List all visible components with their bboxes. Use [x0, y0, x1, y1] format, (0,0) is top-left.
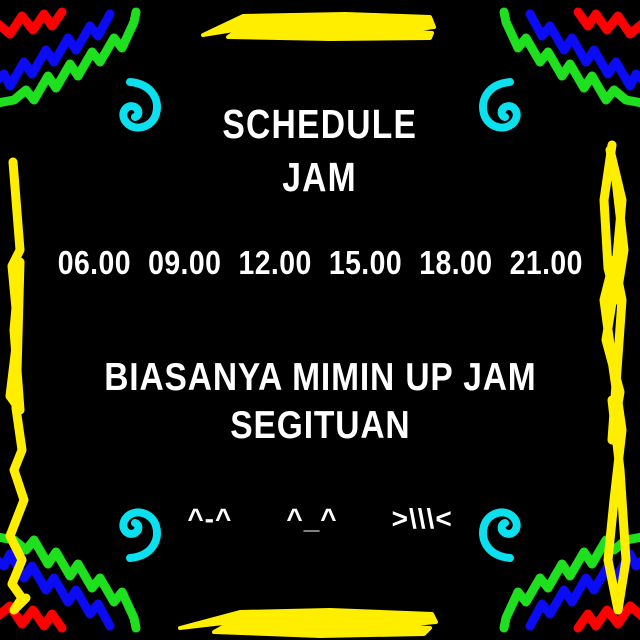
page-subtitle: JAM: [283, 157, 358, 198]
tagline-line-2: SEGITUAN: [104, 402, 536, 450]
schedule-time-slot: 12.00: [238, 244, 311, 282]
tagline-block: BIASANYA MIMIN UP JAM SEGITUAN: [69, 354, 572, 449]
schedule-time-slot: 06.00: [57, 244, 130, 282]
tagline-line-1: BIASANYA MIMIN UP JAM: [104, 354, 536, 402]
schedule-time-slot: 15.00: [329, 244, 402, 282]
emoticon-happy-face: ^-^: [187, 503, 232, 535]
poster-canvas: SCHEDULE JAM 06.00 09.00 12.00 15.00 18.…: [0, 0, 640, 640]
emoticon-row: ^-^ ^_^ >\\\<: [187, 503, 452, 535]
emoticon-smiling-face: ^_^: [286, 503, 337, 535]
poster-content: SCHEDULE JAM 06.00 09.00 12.00 15.00 18.…: [0, 0, 640, 640]
schedule-times-row: 06.00 09.00 12.00 15.00 18.00 21.00: [57, 244, 582, 282]
emoticon-blushing-face: >\\\<: [392, 503, 453, 535]
schedule-time-slot: 21.00: [509, 244, 582, 282]
page-title: SCHEDULE: [223, 104, 418, 145]
schedule-time-slot: 09.00: [148, 244, 221, 282]
schedule-time-slot: 18.00: [419, 244, 492, 282]
